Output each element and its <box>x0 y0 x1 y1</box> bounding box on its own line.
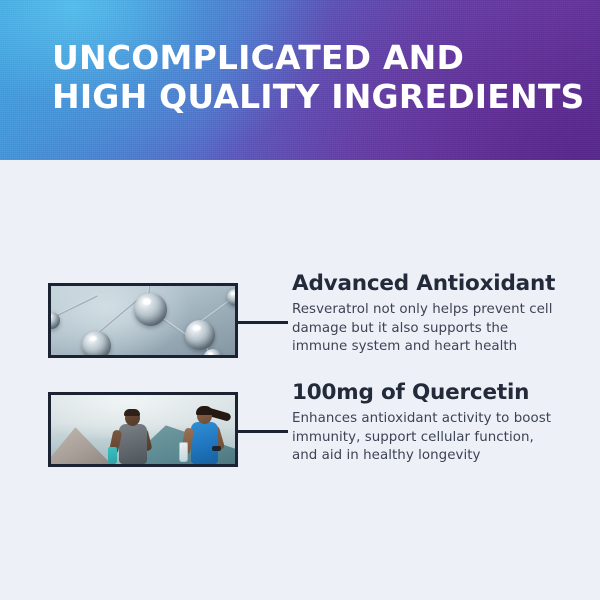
connector-line <box>238 430 288 433</box>
feature-row: 100mg of Quercetin Enhances antioxidant … <box>0 392 600 492</box>
connector-line <box>238 321 288 324</box>
feature-heading: Advanced Antioxidant <box>292 271 560 297</box>
page-title: UNCOMPLICATED AND HIGH QUALITY INGREDIEN… <box>52 38 585 116</box>
wrist-watch <box>212 446 221 451</box>
runners-photo <box>51 395 235 464</box>
runner-female <box>179 408 235 464</box>
feature-heading: 100mg of Quercetin <box>292 380 560 406</box>
ingredients-panel: UNCOMPLICATED AND HIGH QUALITY INGREDIEN… <box>0 0 600 600</box>
water-bottle <box>108 447 117 464</box>
feature-description: Resveratrol not only helps prevent cell … <box>292 301 560 357</box>
feature-row: Advanced Antioxidant Resveratrol not onl… <box>0 283 600 383</box>
header-banner: UNCOMPLICATED AND HIGH QUALITY INGREDIEN… <box>0 0 600 160</box>
feature-text-block: Advanced Antioxidant Resveratrol not onl… <box>292 271 560 357</box>
feature-text-block: 100mg of Quercetin Enhances antioxidant … <box>292 380 560 466</box>
runner-male <box>109 410 167 464</box>
feature-description: Enhances antioxidant activity to boost i… <box>292 410 560 466</box>
feature-image-frame <box>48 392 238 467</box>
molecule-illustration <box>51 286 235 355</box>
water-bottle <box>179 442 188 462</box>
feature-image-frame <box>48 283 238 358</box>
